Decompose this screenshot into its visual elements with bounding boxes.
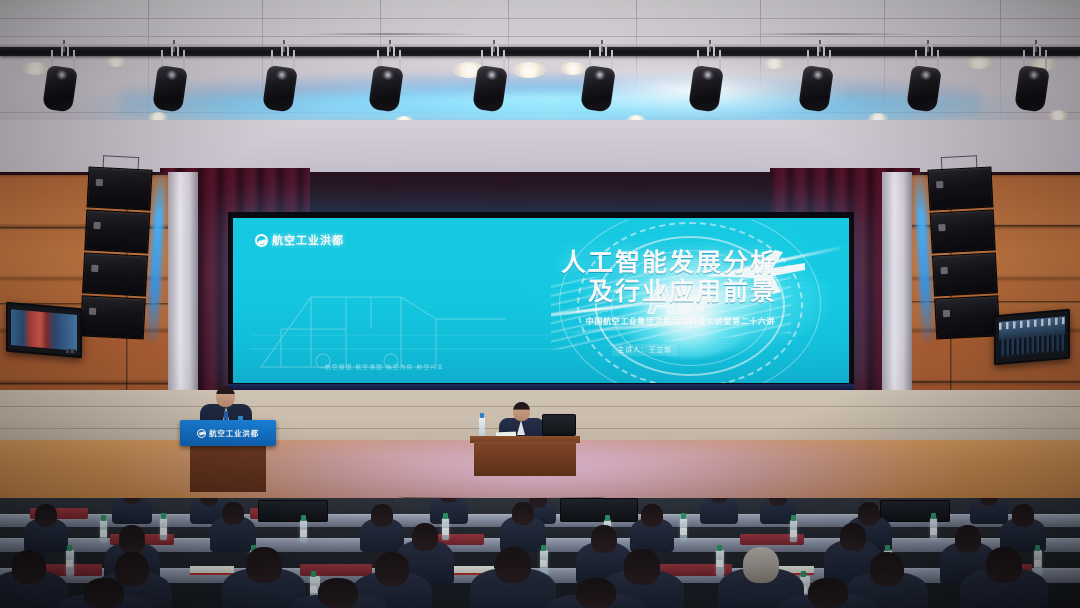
audience-person [56, 594, 152, 608]
water-bottle [160, 518, 167, 540]
speaker-box [932, 252, 998, 296]
slide-brand-logo: 航空工业洪都 [255, 232, 344, 248]
head-table [470, 418, 580, 476]
standing-speaker-head [216, 386, 235, 407]
stage-light-icon [262, 50, 304, 112]
podium-brand-panel: 航空工业洪都 [180, 420, 276, 446]
water-bottle [100, 520, 107, 542]
audience-person [548, 594, 644, 608]
stage-light-icon [906, 50, 948, 112]
stage-light-icon [42, 50, 84, 112]
speaker-box [934, 295, 1000, 339]
led-stage-screen: AI+ 航空工业洪都 人工智能发展分析 及行业应用前景 中国航空工业集团洪都公司… [228, 212, 854, 390]
stage-light-icon [688, 50, 730, 112]
audience-person [700, 498, 738, 524]
speaker-box [80, 295, 146, 339]
podium: 航空工业洪都 [180, 420, 276, 492]
speaker-box [927, 166, 993, 210]
delegate-monitor [258, 500, 328, 522]
stage-light-icon [152, 50, 194, 112]
audience-person [210, 516, 256, 552]
audience-person [112, 498, 152, 524]
audience-person [630, 518, 674, 552]
stage-relay-monitor-right [994, 309, 1070, 366]
stage-relay-monitor-left [6, 302, 82, 359]
stage-light-icon [798, 50, 840, 112]
downlight-icon [512, 62, 546, 78]
seated-person-head [513, 402, 530, 421]
slide-subtitle: 中国航空工业集团洪都公司科技大讲堂第二十六讲 [586, 316, 775, 327]
downlight-icon [764, 58, 784, 69]
water-bottle [479, 417, 485, 437]
speaker-box [930, 209, 996, 253]
slide-presenter-badge: 主讲人：王立新 [612, 344, 677, 356]
water-bottle [790, 520, 797, 542]
stage-light-icon [580, 50, 622, 112]
stage-light-icon [472, 50, 514, 112]
line-array-speaker-left [79, 166, 152, 345]
conference-hall-photo: AI+ 航空工业洪都 人工智能发展分析 及行业应用前景 中国航空工业集团洪都公司… [0, 0, 1080, 608]
speaker-box [87, 166, 153, 210]
blueprint-aircraft-icon [251, 257, 551, 377]
aviation-roundel-icon [255, 234, 268, 247]
audience-person [960, 568, 1048, 608]
aviation-roundel-icon [197, 429, 206, 438]
desk-monitor [542, 414, 576, 436]
audience-person [24, 518, 68, 552]
speaker-box [82, 252, 148, 296]
podium-brand-text: 航空工业洪都 [209, 428, 259, 439]
downlight-icon [106, 56, 126, 67]
audience-person [780, 594, 876, 608]
delegate-monitor [560, 498, 638, 522]
speaker-box [84, 209, 150, 253]
slide-title-line1: 人工智能发展分析 [561, 249, 777, 277]
water-bottle [300, 520, 307, 542]
ceiling-cove-light-secondary [60, 96, 1040, 122]
slide-title: 人工智能发展分析 及行业应用前景 [561, 250, 777, 305]
presentation-slide: AI+ 航空工业洪都 人工智能发展分析 及行业应用前景 中国航空工业集团洪都公司… [233, 218, 849, 383]
line-array-speaker-right [927, 166, 1000, 345]
downlight-icon [966, 56, 992, 69]
audience-area [0, 498, 1080, 608]
water-bottle [680, 518, 687, 540]
slide-title-line2: 及行业应用前景 [561, 279, 777, 306]
slide-brand-logo-text: 航空工业洪都 [272, 232, 344, 248]
slide-footer-note: 航空报国 航空强国 航空为民 航空兴业 [325, 363, 444, 371]
water-bottle [930, 518, 937, 540]
audience-person [430, 498, 468, 524]
stage-light-icon [368, 50, 410, 112]
audience-person [470, 568, 556, 608]
water-bottle [442, 518, 449, 540]
audience-person [290, 594, 386, 608]
stage-light-icon [1014, 50, 1056, 112]
